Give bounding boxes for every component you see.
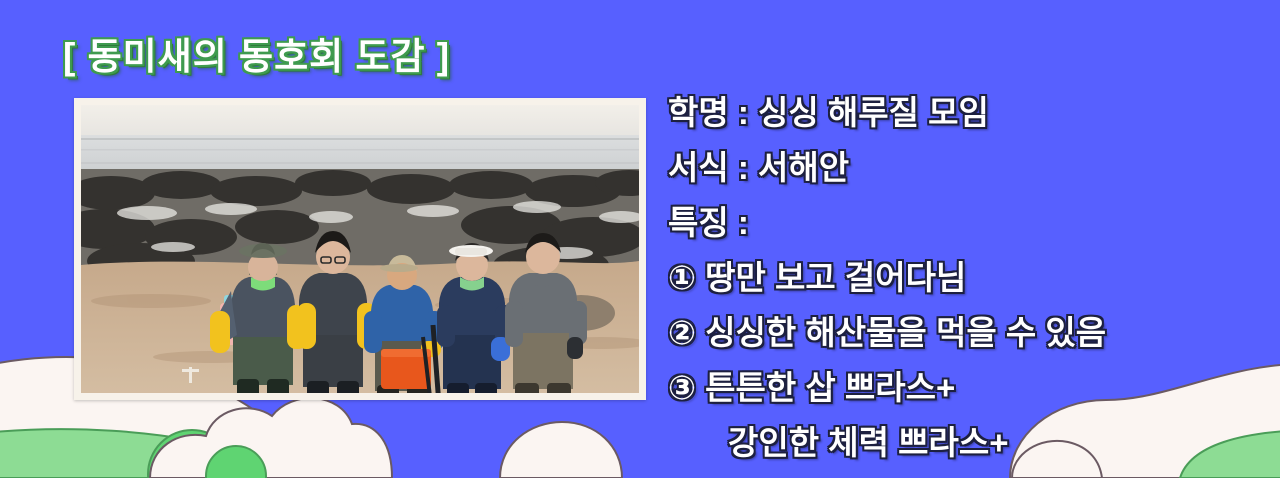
bush-green-left (148, 430, 236, 478)
info-line-features-label: 특징 : (668, 206, 1268, 239)
bush-green-center (206, 446, 266, 478)
info-line-habitat: 서식 : 서해안 (668, 151, 1268, 184)
photo-image (81, 105, 639, 393)
cloud-bump-center (500, 422, 622, 478)
photo-card (74, 98, 646, 400)
info-line-scientific-name: 학명 : 싱싱 해루질 모임 (668, 96, 1268, 129)
info-text-block: 학명 : 싱싱 해루질 모임 서식 : 서해안 특징 : ① 땅만 보고 걸어다… (668, 96, 1268, 459)
grass-strip-left (0, 429, 308, 478)
cloud-cluster-center-left (150, 398, 392, 478)
info-line-feature-2: ② 싱싱한 해산물을 먹을 수 있음 (668, 316, 1268, 349)
info-line-feature-3: ③ 튼튼한 삽 쁘라스+ (668, 371, 1268, 404)
slide-canvas: [ 동미새의 동호회 도감 ] (0, 0, 1280, 478)
info-line-feature-3-cont: 강인한 체력 쁘라스+ (668, 426, 1268, 459)
info-line-feature-1: ① 땅만 보고 걸어다님 (668, 261, 1268, 294)
page-title: [ 동미새의 동호회 도감 ] (63, 26, 450, 80)
